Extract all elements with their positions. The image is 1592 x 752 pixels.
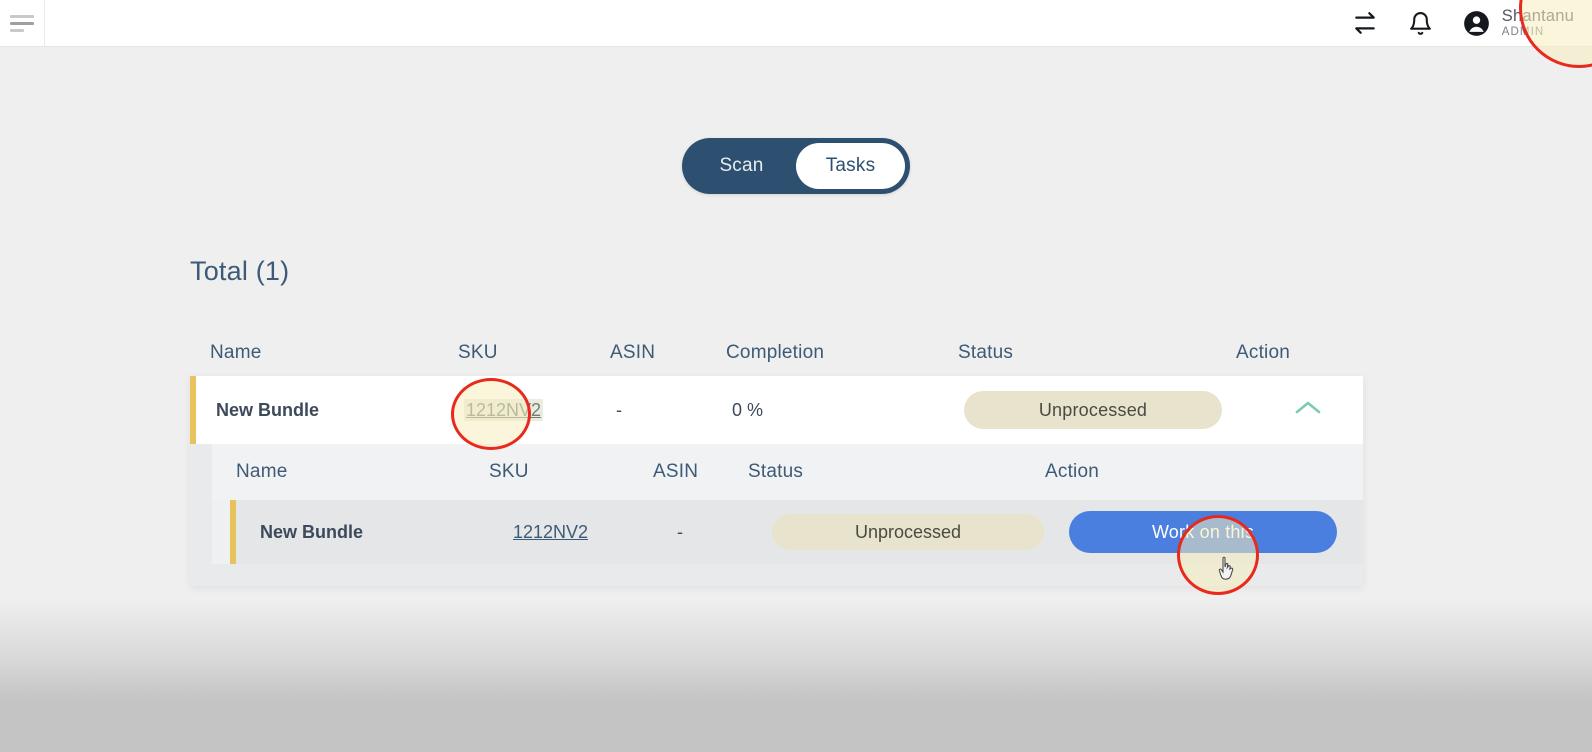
header-menu-area: [0, 0, 45, 47]
page-title: Total (1): [190, 256, 289, 287]
status-badge: Unprocessed: [772, 514, 1044, 550]
main-table-header-row: Name SKU ASIN Completion Status Action: [190, 330, 1363, 376]
expanded-subtable-wrapper: Name SKU ASIN Status Action New Bundle 1…: [190, 444, 1363, 586]
sub-column-header-asin: ASIN: [653, 461, 748, 483]
user-info: Shantanu ADMIN: [1502, 7, 1574, 38]
cell-name: New Bundle: [260, 522, 513, 543]
hamburger-menu-icon[interactable]: [10, 15, 34, 32]
work-on-this-button[interactable]: Work on this: [1069, 511, 1337, 553]
column-header-asin: ASIN: [610, 342, 726, 364]
column-header-name: Name: [210, 342, 458, 364]
cell-sku: 1212NV2: [513, 522, 677, 543]
cell-action: [1242, 399, 1363, 422]
hamburger-line: [10, 15, 34, 18]
sub-column-header-status: Status: [748, 461, 1045, 483]
account-circle-icon: [1462, 8, 1492, 38]
cell-completion: 0 %: [732, 400, 964, 421]
cell-asin: -: [616, 400, 732, 421]
sub-table-header-row: Name SKU ASIN Status Action: [212, 444, 1363, 500]
sub-column-header-name: Name: [236, 461, 489, 483]
cell-asin: -: [677, 522, 772, 543]
view-toggle-wrapper: Scan Tasks: [0, 138, 1592, 194]
swap-arrows-icon[interactable]: [1350, 8, 1380, 38]
column-header-completion: Completion: [726, 342, 958, 364]
cell-status: Unprocessed: [772, 514, 1069, 550]
hamburger-line: [10, 22, 34, 25]
app-header: Shantanu ADMIN: [0, 0, 1592, 47]
table-row[interactable]: New Bundle 1212NV2 - Unprocessed Work on…: [230, 500, 1363, 564]
toggle-option-scan[interactable]: Scan: [687, 143, 796, 189]
user-profile-menu[interactable]: Shantanu ADMIN: [1462, 7, 1574, 38]
tasks-card: New Bundle 1212NV2 - 0 % Unprocessed: [190, 376, 1363, 586]
cell-status: Unprocessed: [964, 391, 1242, 429]
header-actions: Shantanu ADMIN: [1350, 7, 1592, 38]
notification-bell-icon[interactable]: [1406, 8, 1436, 38]
cell-sku: 1212NV2: [464, 400, 616, 421]
scan-tasks-toggle[interactable]: Scan Tasks: [682, 138, 910, 194]
sku-link[interactable]: 1212NV2: [513, 522, 588, 542]
user-role: ADMIN: [1502, 26, 1574, 39]
cell-action: Work on this: [1069, 511, 1363, 553]
subtable: Name SKU ASIN Status Action New Bundle 1…: [212, 444, 1363, 564]
column-header-sku: SKU: [458, 342, 610, 364]
table-row[interactable]: New Bundle 1212NV2 - 0 % Unprocessed: [190, 376, 1363, 444]
cell-name: New Bundle: [216, 400, 464, 421]
sku-link[interactable]: 1212NV2: [464, 399, 543, 421]
sub-column-header-action: Action: [1045, 461, 1363, 483]
column-header-action: Action: [1236, 342, 1363, 364]
sub-column-header-sku: SKU: [489, 461, 653, 483]
chevron-up-icon[interactable]: [1294, 399, 1322, 422]
tasks-table: Name SKU ASIN Completion Status Action N…: [190, 330, 1363, 586]
user-name: Shantanu: [1502, 7, 1574, 25]
hamburger-line: [10, 29, 24, 32]
status-badge: Unprocessed: [964, 391, 1222, 429]
column-header-status: Status: [958, 342, 1236, 364]
toggle-option-tasks[interactable]: Tasks: [796, 143, 905, 189]
